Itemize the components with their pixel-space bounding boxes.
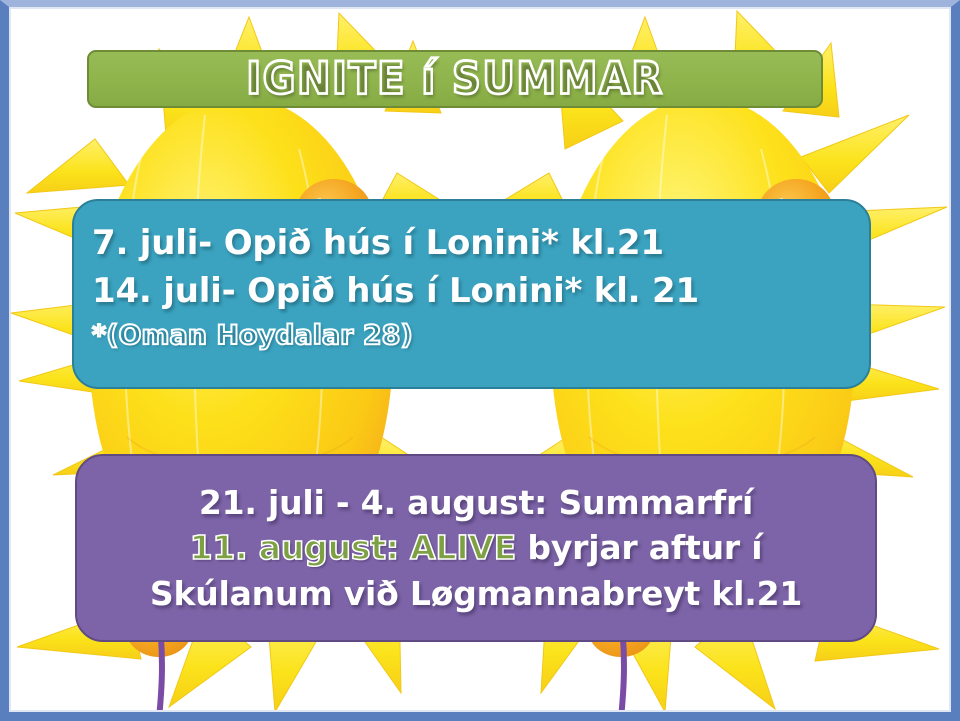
purple-line-2: 11. august: ALIVE byrjar aftur í <box>190 525 763 571</box>
poster-canvas: IGNITE í SUMMAR 7. juli- Opið hús í Loni… <box>0 0 960 721</box>
purple-info-panel: 21. juli - 4. august: Summarfrí 11. augu… <box>75 454 877 642</box>
alive-highlight: 11. august: ALIVE <box>190 528 516 567</box>
purple-line-3: Skúlanum við Løgmannabreyt kl.21 <box>150 571 802 617</box>
teal-footnote: *(Oman Hoydalar 28) <box>92 318 869 354</box>
teal-line-2: 14. juli- Opið hús í Lonini* kl. 21 <box>92 267 869 315</box>
purple-line-1: 21. juli - 4. august: Summarfrí <box>199 480 753 526</box>
title-banner: IGNITE í SUMMAR <box>87 50 823 108</box>
page-title: IGNITE í SUMMAR <box>246 57 663 102</box>
purple-line-2-suffix: byrjar aftur í <box>516 528 762 567</box>
teal-line-1: 7. juli- Opið hús í Lonini* kl.21 <box>92 219 869 267</box>
teal-info-panel: 7. juli- Opið hús í Lonini* kl.21 14. ju… <box>72 199 871 389</box>
